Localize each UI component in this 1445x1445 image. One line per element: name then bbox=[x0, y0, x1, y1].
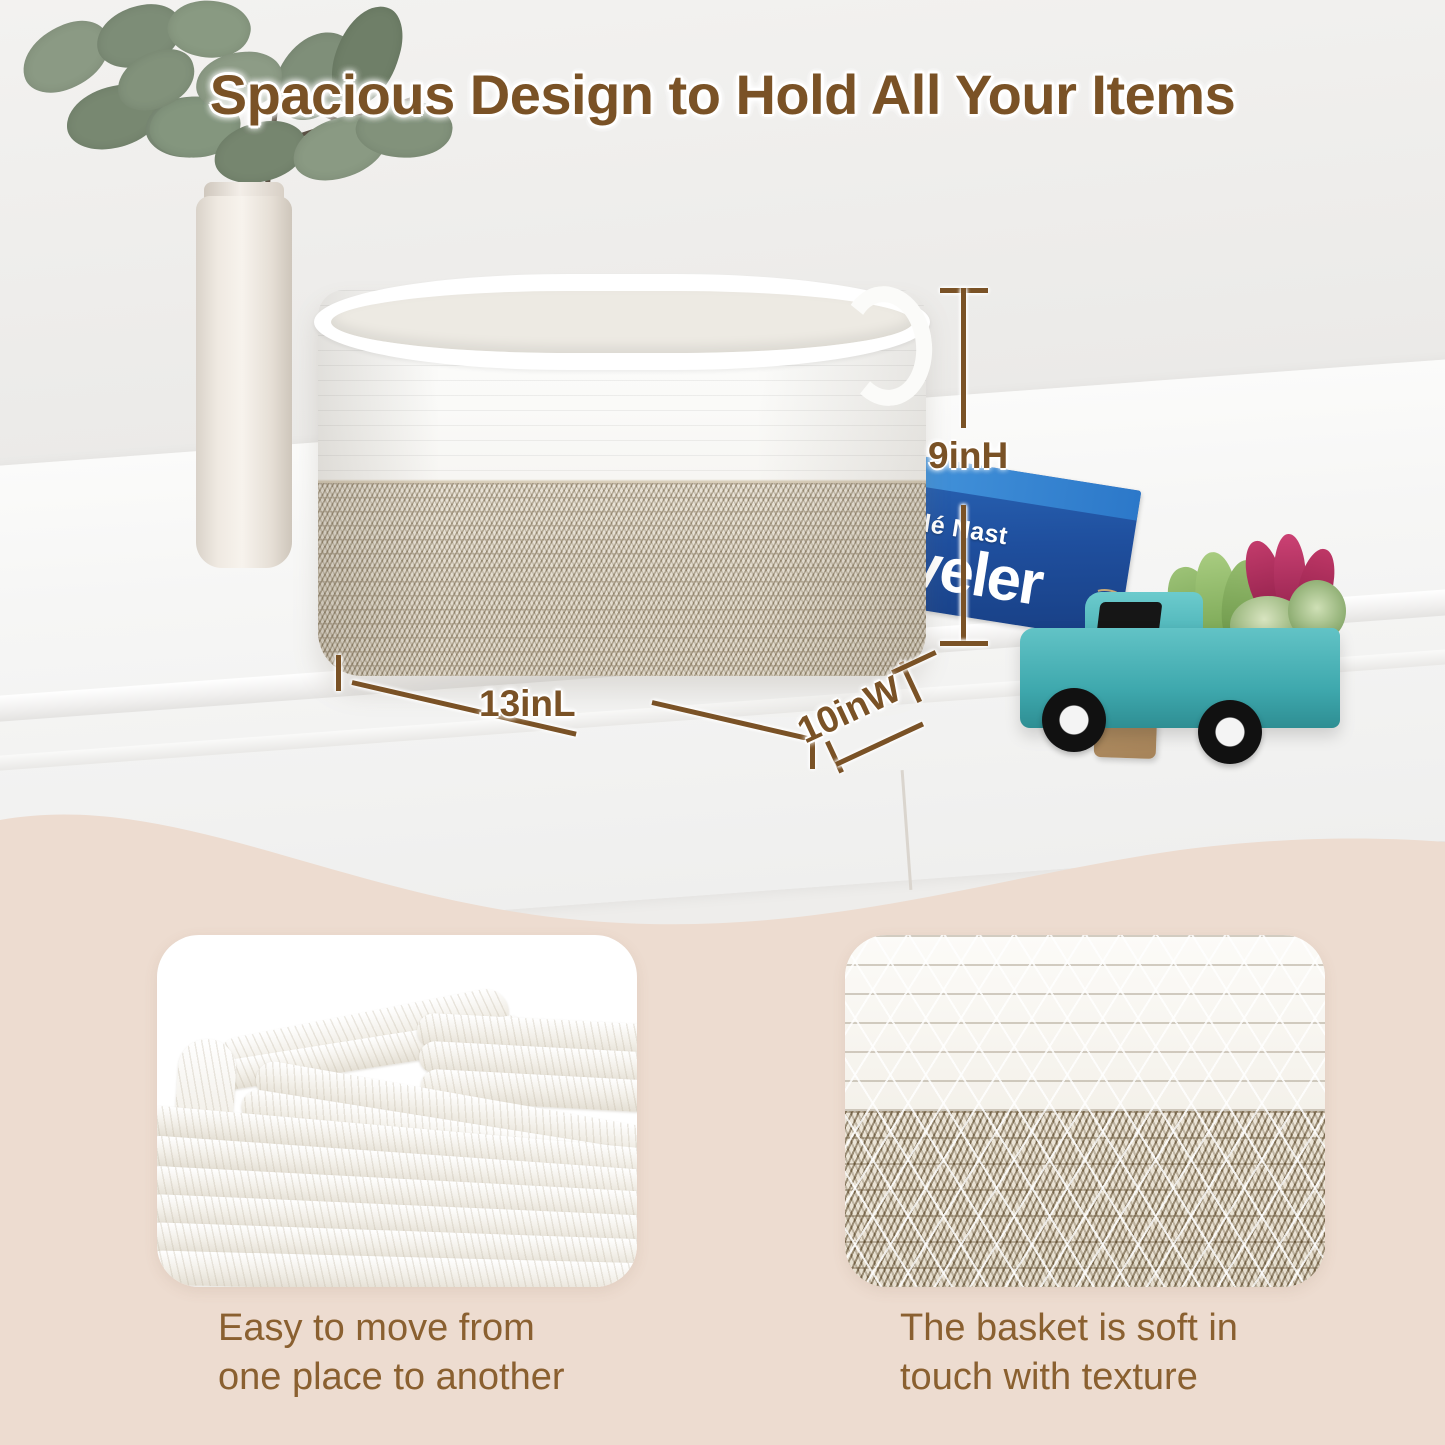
truck-wheel bbox=[1198, 700, 1262, 764]
feature-caption-left-line1: Easy to move from bbox=[218, 1304, 738, 1353]
feature-caption-right-line2: touch with texture bbox=[900, 1353, 1420, 1402]
dimension-line-bottom bbox=[961, 505, 966, 645]
feature-image-texture bbox=[845, 935, 1325, 1287]
dimension-cap-bottom bbox=[940, 641, 988, 646]
feature-section: Easy to move from one place to another T… bbox=[0, 930, 1445, 1445]
product-infographic: Condé Nast Traveler Books bbox=[0, 0, 1445, 1445]
feature-caption-left: Easy to move from one place to another bbox=[218, 1304, 738, 1401]
truck-wheel bbox=[1042, 688, 1106, 752]
dimension-cap-left bbox=[336, 655, 341, 691]
feature-caption-right-line1: The basket is soft in bbox=[900, 1304, 1420, 1353]
weave-cross-stitch bbox=[845, 935, 1325, 1287]
feature-caption-left-line2: one place to another bbox=[218, 1353, 738, 1402]
dimension-line-top bbox=[961, 288, 966, 428]
rope-storage-basket: Condé Nast Traveler Books bbox=[318, 256, 926, 676]
dimension-label-length: 13inL bbox=[479, 683, 576, 725]
feature-image-handle bbox=[157, 935, 637, 1287]
dimension-label-height: 9inH bbox=[928, 435, 1008, 477]
feature-caption-right: The basket is soft in touch with texture bbox=[900, 1304, 1420, 1401]
basket-rim bbox=[314, 274, 930, 370]
page-title: Spacious Design to Hold All Your Items bbox=[0, 62, 1445, 127]
ceramic-vase bbox=[196, 196, 292, 568]
